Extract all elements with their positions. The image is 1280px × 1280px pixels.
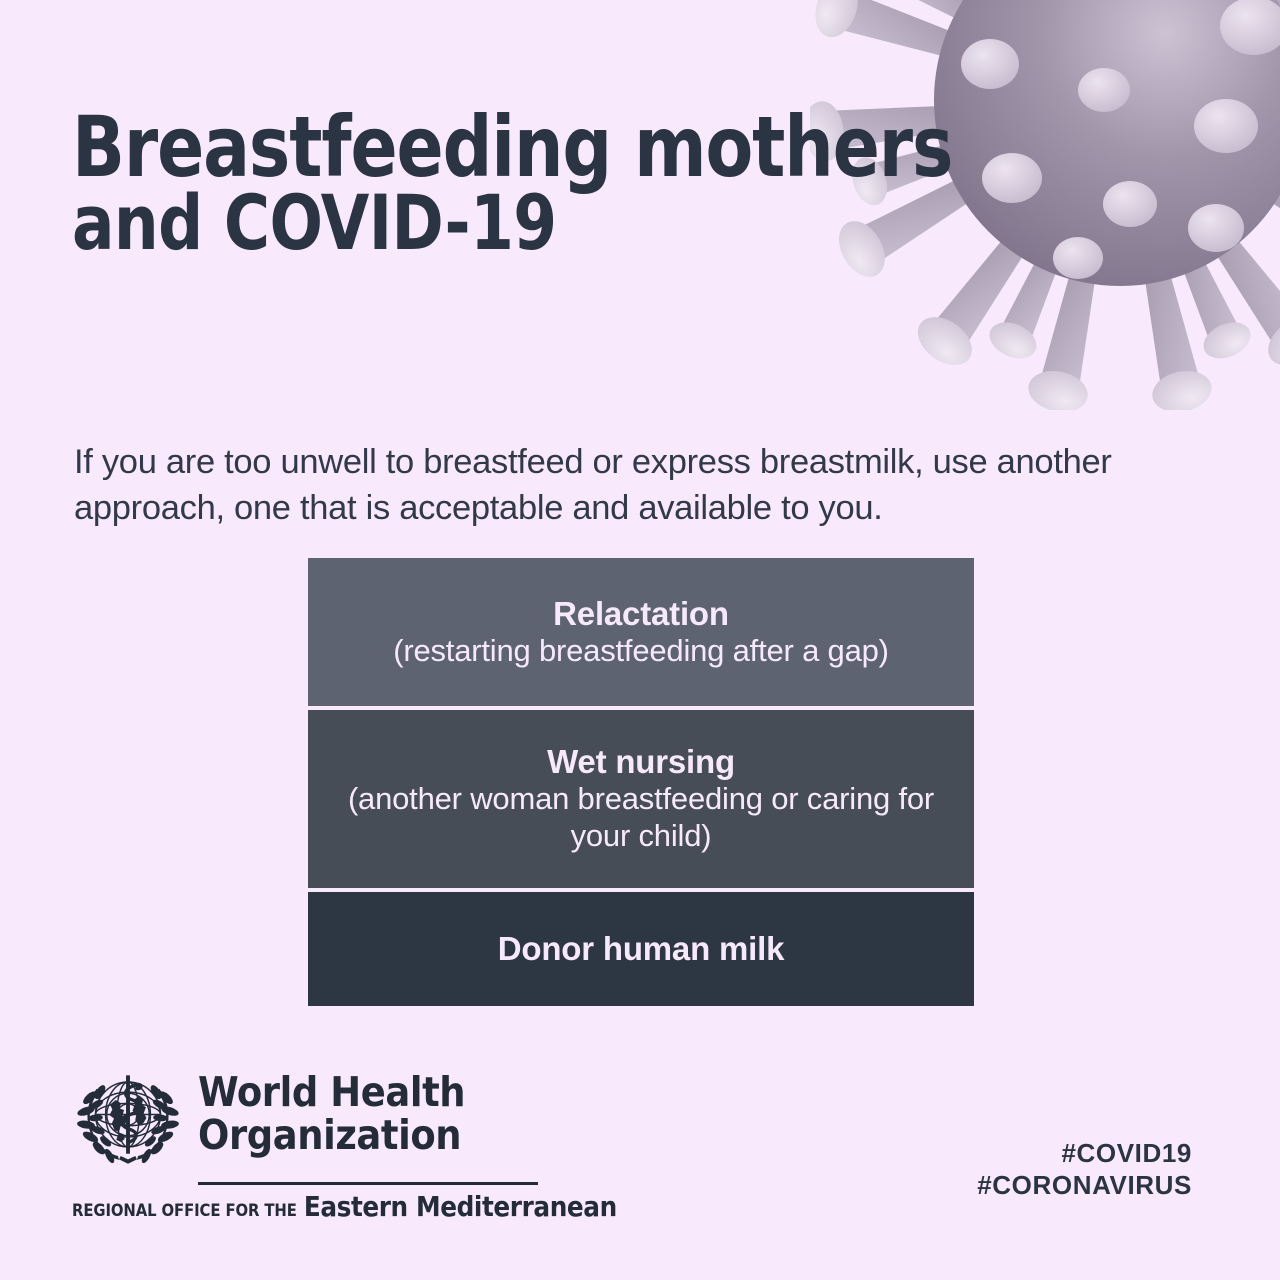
option-card-donor-human-milk: Donor human milk <box>308 892 974 1006</box>
who-wordmark: World Health Organization <box>198 1063 465 1156</box>
who-region-prefix: REGIONAL OFFICE FOR THE <box>72 1201 297 1220</box>
option-card-relactation: Relactation (restarting breastfeeding af… <box>308 558 974 706</box>
who-region-row: REGIONAL OFFICE FOR THE Eastern Mediterr… <box>72 1191 617 1223</box>
who-emblem-icon <box>72 1063 184 1175</box>
who-logo-divider <box>198 1182 538 1185</box>
page-title-line-2: and COVID-19 <box>72 187 952 258</box>
hashtag-covid19: #COVID19 <box>977 1138 1192 1170</box>
option-title: Wet nursing <box>547 743 735 781</box>
who-logo: World Health Organization REGIONAL OFFIC… <box>72 1063 617 1223</box>
option-title: Donor human milk <box>498 930 785 968</box>
hashtags: #COVID19 #CORONAVIRUS <box>977 1138 1192 1201</box>
who-region-name: Eastern Mediterranean <box>304 1191 617 1223</box>
intro-paragraph: If you are too unwell to breastfeed or e… <box>74 439 1254 533</box>
who-name-line-2: Organization <box>198 1114 465 1157</box>
option-title: Relactation <box>553 595 729 633</box>
who-name-line-1: World Health <box>198 1071 465 1114</box>
option-card-wet-nursing: Wet nursing (another woman breastfeeding… <box>308 710 974 888</box>
hashtag-coronavirus: #CORONAVIRUS <box>977 1170 1192 1202</box>
page-title-line-1: Breastfeeding mothers <box>72 108 952 187</box>
page-title: Breastfeeding mothers and COVID-19 <box>72 108 1029 258</box>
option-description: (restarting breastfeeding after a gap) <box>393 633 889 670</box>
option-description: (another woman breastfeeding or caring f… <box>326 781 956 854</box>
alternative-feeding-options-list: Relactation (restarting breastfeeding af… <box>308 558 974 1006</box>
